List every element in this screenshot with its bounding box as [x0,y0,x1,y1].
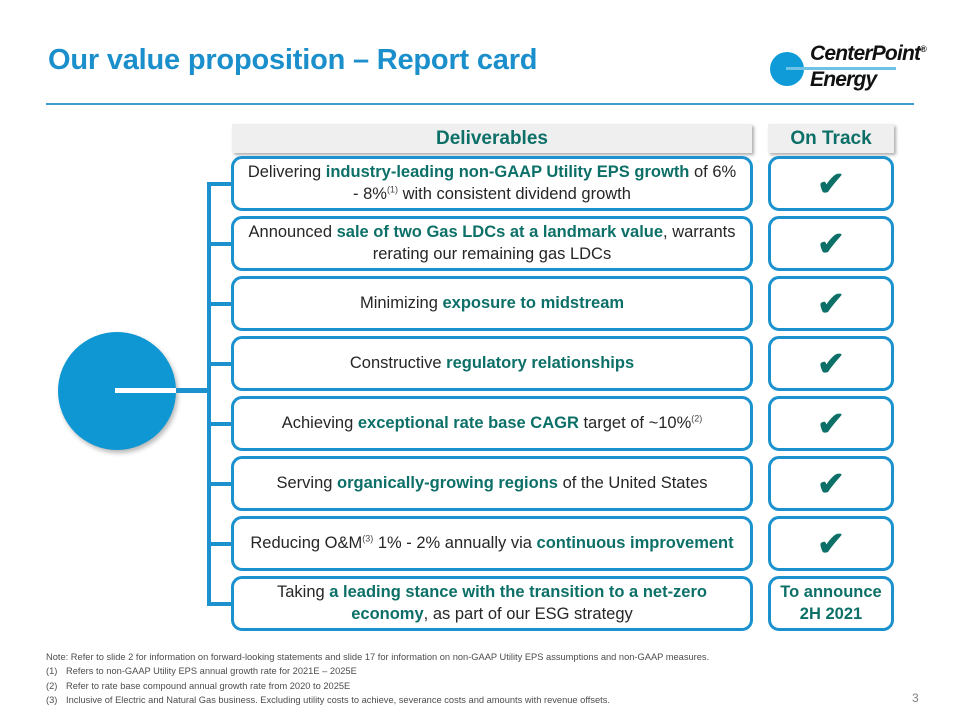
footnote-number: (1) [46,664,66,678]
deliverable-text: Delivering industry-leading non-GAAP Uti… [244,162,740,206]
hub-connector-stub [176,388,210,393]
footnote-item: (3)Inclusive of Electric and Natural Gas… [46,693,846,707]
deliverable-row[interactable]: Delivering industry-leading non-GAAP Uti… [231,156,753,211]
status-cell[interactable]: ✔ [768,456,894,511]
status-cell[interactable]: ✔ [768,276,894,331]
connector-branch [207,602,233,606]
connector-branch [207,422,233,426]
deliverable-row[interactable]: Serving organically-growing regions of t… [231,456,753,511]
page-title: Our value proposition – Report card [48,44,537,77]
status-cell[interactable]: ✔ [768,216,894,271]
check-icon: ✔ [817,527,845,560]
logo-word-centerpoint: CenterPoint® [810,42,926,66]
status-cell[interactable]: ✔ [768,516,894,571]
footnote-text: Refer to rate base compound annual growt… [66,681,350,691]
connector-branch [207,182,233,186]
status-label-line2: 2H 2021 [780,604,881,625]
page-number: 3 [912,691,919,705]
deliverable-text: Taking a leading stance with the transit… [244,582,740,626]
check-icon: ✔ [817,467,845,500]
footnote-item: (1)Refers to non-GAAP Utility EPS annual… [46,664,846,678]
footnote-note: Note: Refer to slide 2 for information o… [46,650,846,664]
status-cell[interactable]: To announce2H 2021 [768,576,894,631]
deliverables-column-header: Deliverables [232,124,752,153]
deliverable-row[interactable]: Reducing O&M(3) 1% - 2% annually via con… [231,516,753,571]
connector-branch [207,482,233,486]
check-icon: ✔ [817,227,845,260]
centerpoint-energy-logo: CenterPoint® Energy [770,40,920,98]
footnote-items: (1)Refers to non-GAAP Utility EPS annual… [46,664,846,707]
deliverable-text: Reducing O&M(3) 1% - 2% annually via con… [250,533,733,555]
status-label: To announce2H 2021 [780,582,881,624]
logo-word-energy: Energy [810,68,876,92]
check-icon: ✔ [817,287,845,320]
status-label-line1: To announce [780,582,881,603]
footnote-text: Inclusive of Electric and Natural Gas bu… [66,695,610,705]
deliverable-row[interactable]: Minimizing exposure to midstream [231,276,753,331]
deliverable-text: Minimizing exposure to midstream [360,293,624,315]
deliverable-text: Announced sale of two Gas LDCs at a land… [244,222,740,266]
slide-header: Our value proposition – Report card Cent… [0,0,960,110]
status-cell[interactable]: ✔ [768,396,894,451]
check-icon: ✔ [817,167,845,200]
connector-branch [207,362,233,366]
deliverable-text: Serving organically-growing regions of t… [277,473,708,495]
footnote-number: (2) [46,679,66,693]
connector-spine [207,184,211,604]
title-divider [46,103,914,105]
connector-branch [207,542,233,546]
deliverable-row[interactable]: Announced sale of two Gas LDCs at a land… [231,216,753,271]
footnote-item: (2)Refer to rate base compound annual gr… [46,679,846,693]
registered-trademark-icon: ® [920,44,926,54]
deliverable-row[interactable]: Achieving exceptional rate base CAGR tar… [231,396,753,451]
deliverable-row[interactable]: Constructive regulatory relationships [231,336,753,391]
footnotes: Note: Refer to slide 2 for information o… [46,650,846,708]
deliverable-text: Constructive regulatory relationships [350,353,634,375]
connector-branch [207,302,233,306]
hub-circle [58,332,176,450]
check-icon: ✔ [817,347,845,380]
footnote-number: (3) [46,693,66,707]
status-cell[interactable]: ✔ [768,156,894,211]
logo-word-centerpoint-text: CenterPoint [810,42,920,65]
deliverable-row[interactable]: Taking a leading stance with the transit… [231,576,753,631]
deliverable-text: Achieving exceptional rate base CAGR tar… [282,413,703,435]
connector-branch [207,242,233,246]
footnote-text: Refers to non-GAAP Utility EPS annual gr… [66,666,357,676]
on-track-column-header: On Track [768,124,894,153]
status-cell[interactable]: ✔ [768,336,894,391]
hub-dash-icon [115,388,183,393]
check-icon: ✔ [817,407,845,440]
